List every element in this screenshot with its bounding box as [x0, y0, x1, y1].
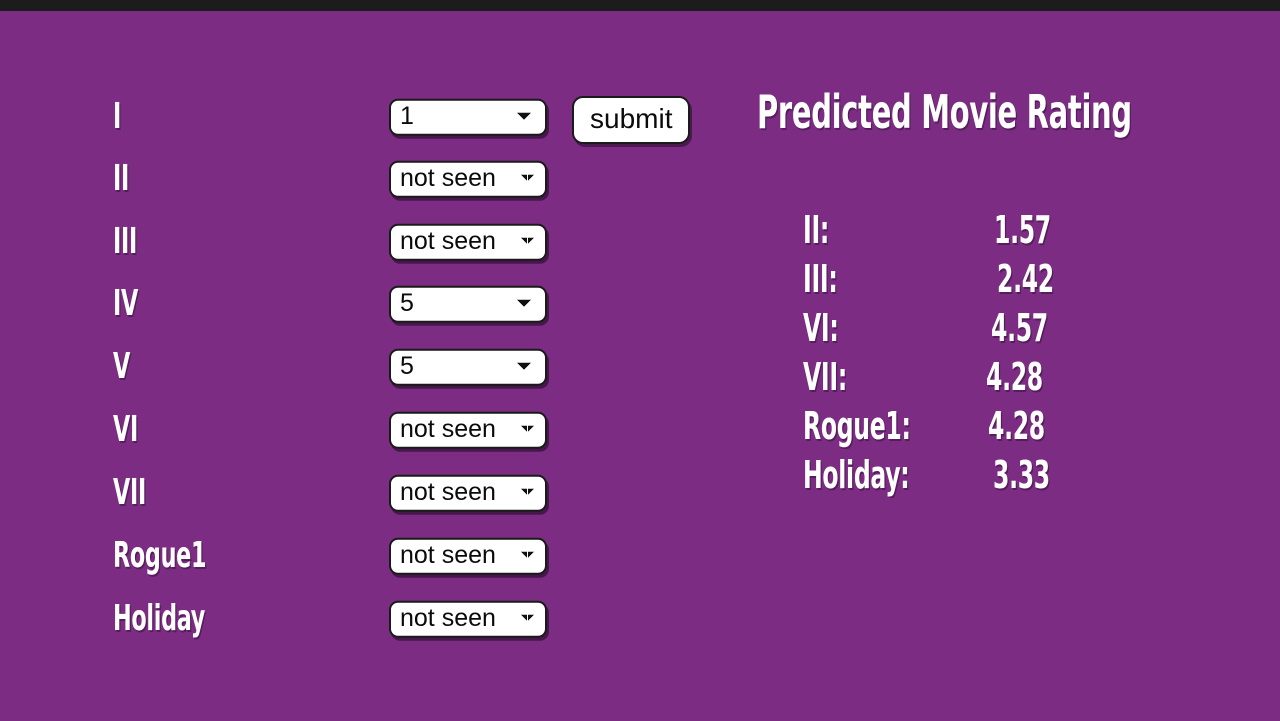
rating-select-wrapper: not seen12345 [389, 412, 547, 449]
rating-select[interactable]: not seen12345 [389, 161, 547, 198]
submit-button[interactable]: submit [572, 96, 690, 144]
predicted-rating-movie: VI: [803, 309, 838, 347]
rating-select[interactable]: not seen12345 [389, 601, 547, 638]
movie-label: II [113, 161, 129, 197]
rating-select-wrapper: not seen12345 [389, 538, 547, 575]
rating-select[interactable]: not seen12345 [389, 224, 547, 261]
movie-label: III [113, 224, 137, 260]
page-viewport: Inot seen12345IInot seen12345IIInot seen… [0, 0, 1280, 721]
rating-form-row: Rogue1not seen12345 [0, 525, 720, 587]
movie-label: V [113, 349, 130, 385]
predicted-rating-movie: II: [803, 211, 829, 249]
predicted-rating-row: VI:4.57 [740, 309, 1280, 358]
predicted-rating-movie: VII: [803, 358, 847, 396]
rating-select-wrapper: not seen12345 [389, 286, 547, 323]
predicted-rating-panel: Predicted Movie Rating II:1.57III:2.42VI… [740, 11, 1280, 721]
rating-select[interactable]: not seen12345 [389, 286, 547, 323]
predicted-rating-value: 1.57 [994, 211, 1051, 249]
predicted-rating-row: II:1.57 [740, 211, 1280, 260]
rating-select-wrapper: not seen12345 [389, 475, 547, 512]
rating-form-panel: Inot seen12345IInot seen12345IIInot seen… [0, 11, 720, 721]
movie-label: Holiday [113, 601, 205, 637]
rating-select-wrapper: not seen12345 [389, 161, 547, 198]
movie-label: VII [113, 475, 146, 511]
rating-form-row: IIInot seen12345 [0, 211, 720, 273]
predicted-rating-value: 4.28 [986, 358, 1043, 396]
rating-select[interactable]: not seen12345 [389, 475, 547, 512]
movie-label: I [113, 99, 121, 135]
rating-select[interactable]: not seen12345 [389, 412, 547, 449]
rating-select[interactable]: not seen12345 [389, 349, 547, 386]
rating-select-wrapper: not seen12345 [389, 99, 547, 136]
predicted-rating-value: 4.28 [988, 407, 1045, 445]
predicted-rating-value: 2.42 [997, 260, 1054, 298]
rating-select[interactable]: not seen12345 [389, 99, 547, 136]
browser-chrome-strip [0, 0, 1280, 11]
rating-form-row: VInot seen12345 [0, 399, 720, 461]
rating-form-row: IInot seen12345 [0, 148, 720, 210]
results-panel-title: Predicted Movie Rating [757, 89, 1132, 135]
predicted-rating-row: Rogue1:4.28 [740, 407, 1280, 456]
rating-form-row: Vnot seen12345 [0, 336, 720, 398]
movie-label: Rogue1 [113, 538, 206, 574]
movie-label: VI [113, 412, 138, 448]
predicted-rating-movie: Rogue1: [803, 407, 911, 445]
predicted-rating-movie: III: [803, 260, 837, 298]
rating-form-row: IVnot seen12345 [0, 273, 720, 335]
rating-select-wrapper: not seen12345 [389, 601, 547, 638]
predicted-rating-movie: Holiday: [803, 456, 909, 494]
predicted-rating-value: 4.57 [991, 309, 1048, 347]
predicted-rating-value: 3.33 [993, 456, 1050, 494]
rating-select-wrapper: not seen12345 [389, 224, 547, 261]
movie-label: IV [113, 286, 138, 322]
rating-select-wrapper: not seen12345 [389, 349, 547, 386]
rating-select[interactable]: not seen12345 [389, 538, 547, 575]
rating-form-row: Holidaynot seen12345 [0, 588, 720, 650]
predicted-rating-row: III:2.42 [740, 260, 1280, 309]
predicted-rating-row: Holiday:3.33 [740, 456, 1280, 505]
predicted-rating-row: VII:4.28 [740, 358, 1280, 407]
rating-form-row: VIInot seen12345 [0, 462, 720, 524]
